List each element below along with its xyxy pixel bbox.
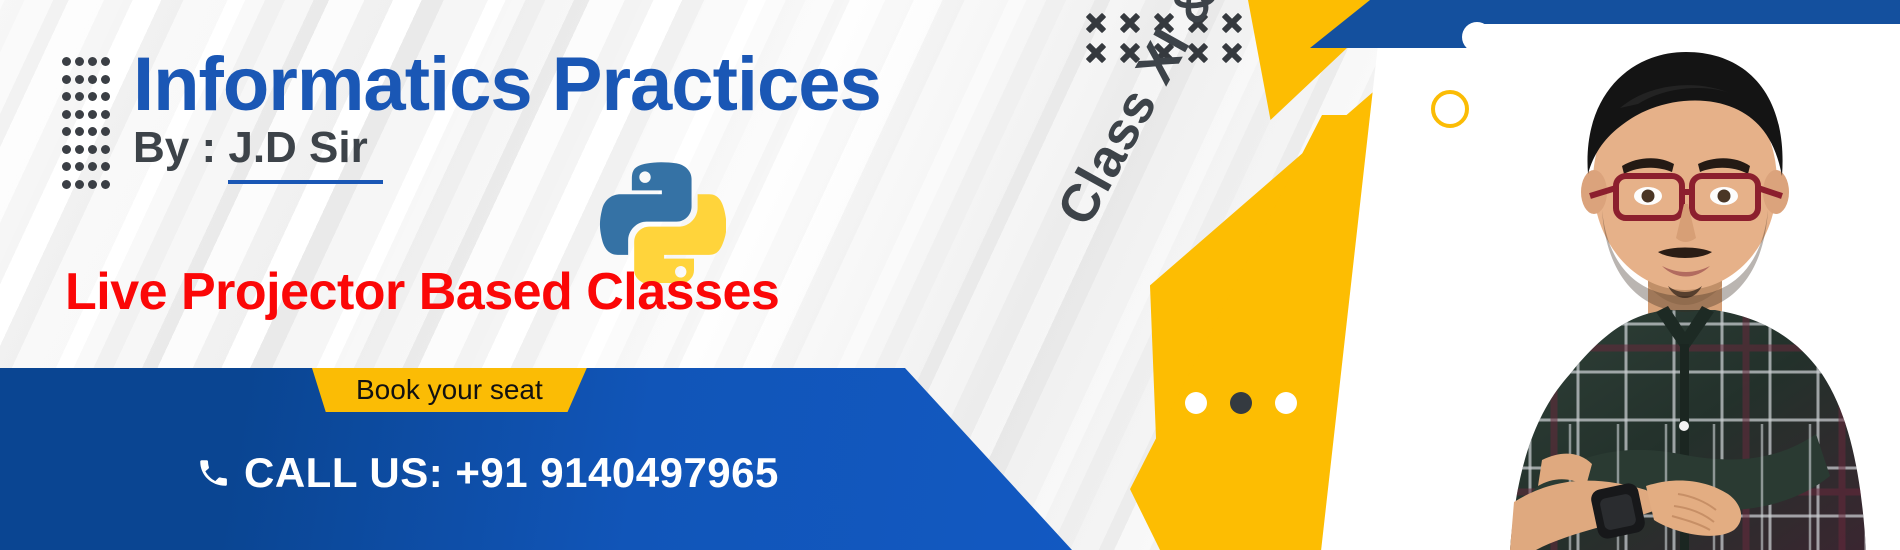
carousel-dot[interactable] (1230, 392, 1252, 414)
promo-banner: Informatics Practices By : J.D Sir Live … (0, 0, 1900, 550)
tagline: Live Projector Based Classes (65, 262, 779, 322)
call-us-text: CALL US: +91 9140497965 (244, 449, 779, 497)
yellow-ring-decor (1431, 90, 1469, 128)
call-us-row[interactable]: CALL US: +91 9140497965 (196, 449, 779, 497)
instructor-photo (1470, 24, 1900, 550)
dot-grid-icon (60, 53, 112, 193)
phone-icon (196, 456, 230, 490)
carousel-indicator[interactable] (1185, 392, 1297, 414)
page-title: Informatics Practices (133, 47, 881, 123)
byline-underline (228, 180, 383, 184)
book-your-seat-button[interactable]: Book your seat (312, 368, 587, 412)
instructor-byline: By : J.D Sir (133, 126, 368, 170)
book-your-seat-label: Book your seat (356, 374, 543, 406)
byline-group: By : J.D Sir (133, 126, 368, 170)
carousel-dot[interactable] (1185, 392, 1207, 414)
carousel-dot[interactable] (1275, 392, 1297, 414)
